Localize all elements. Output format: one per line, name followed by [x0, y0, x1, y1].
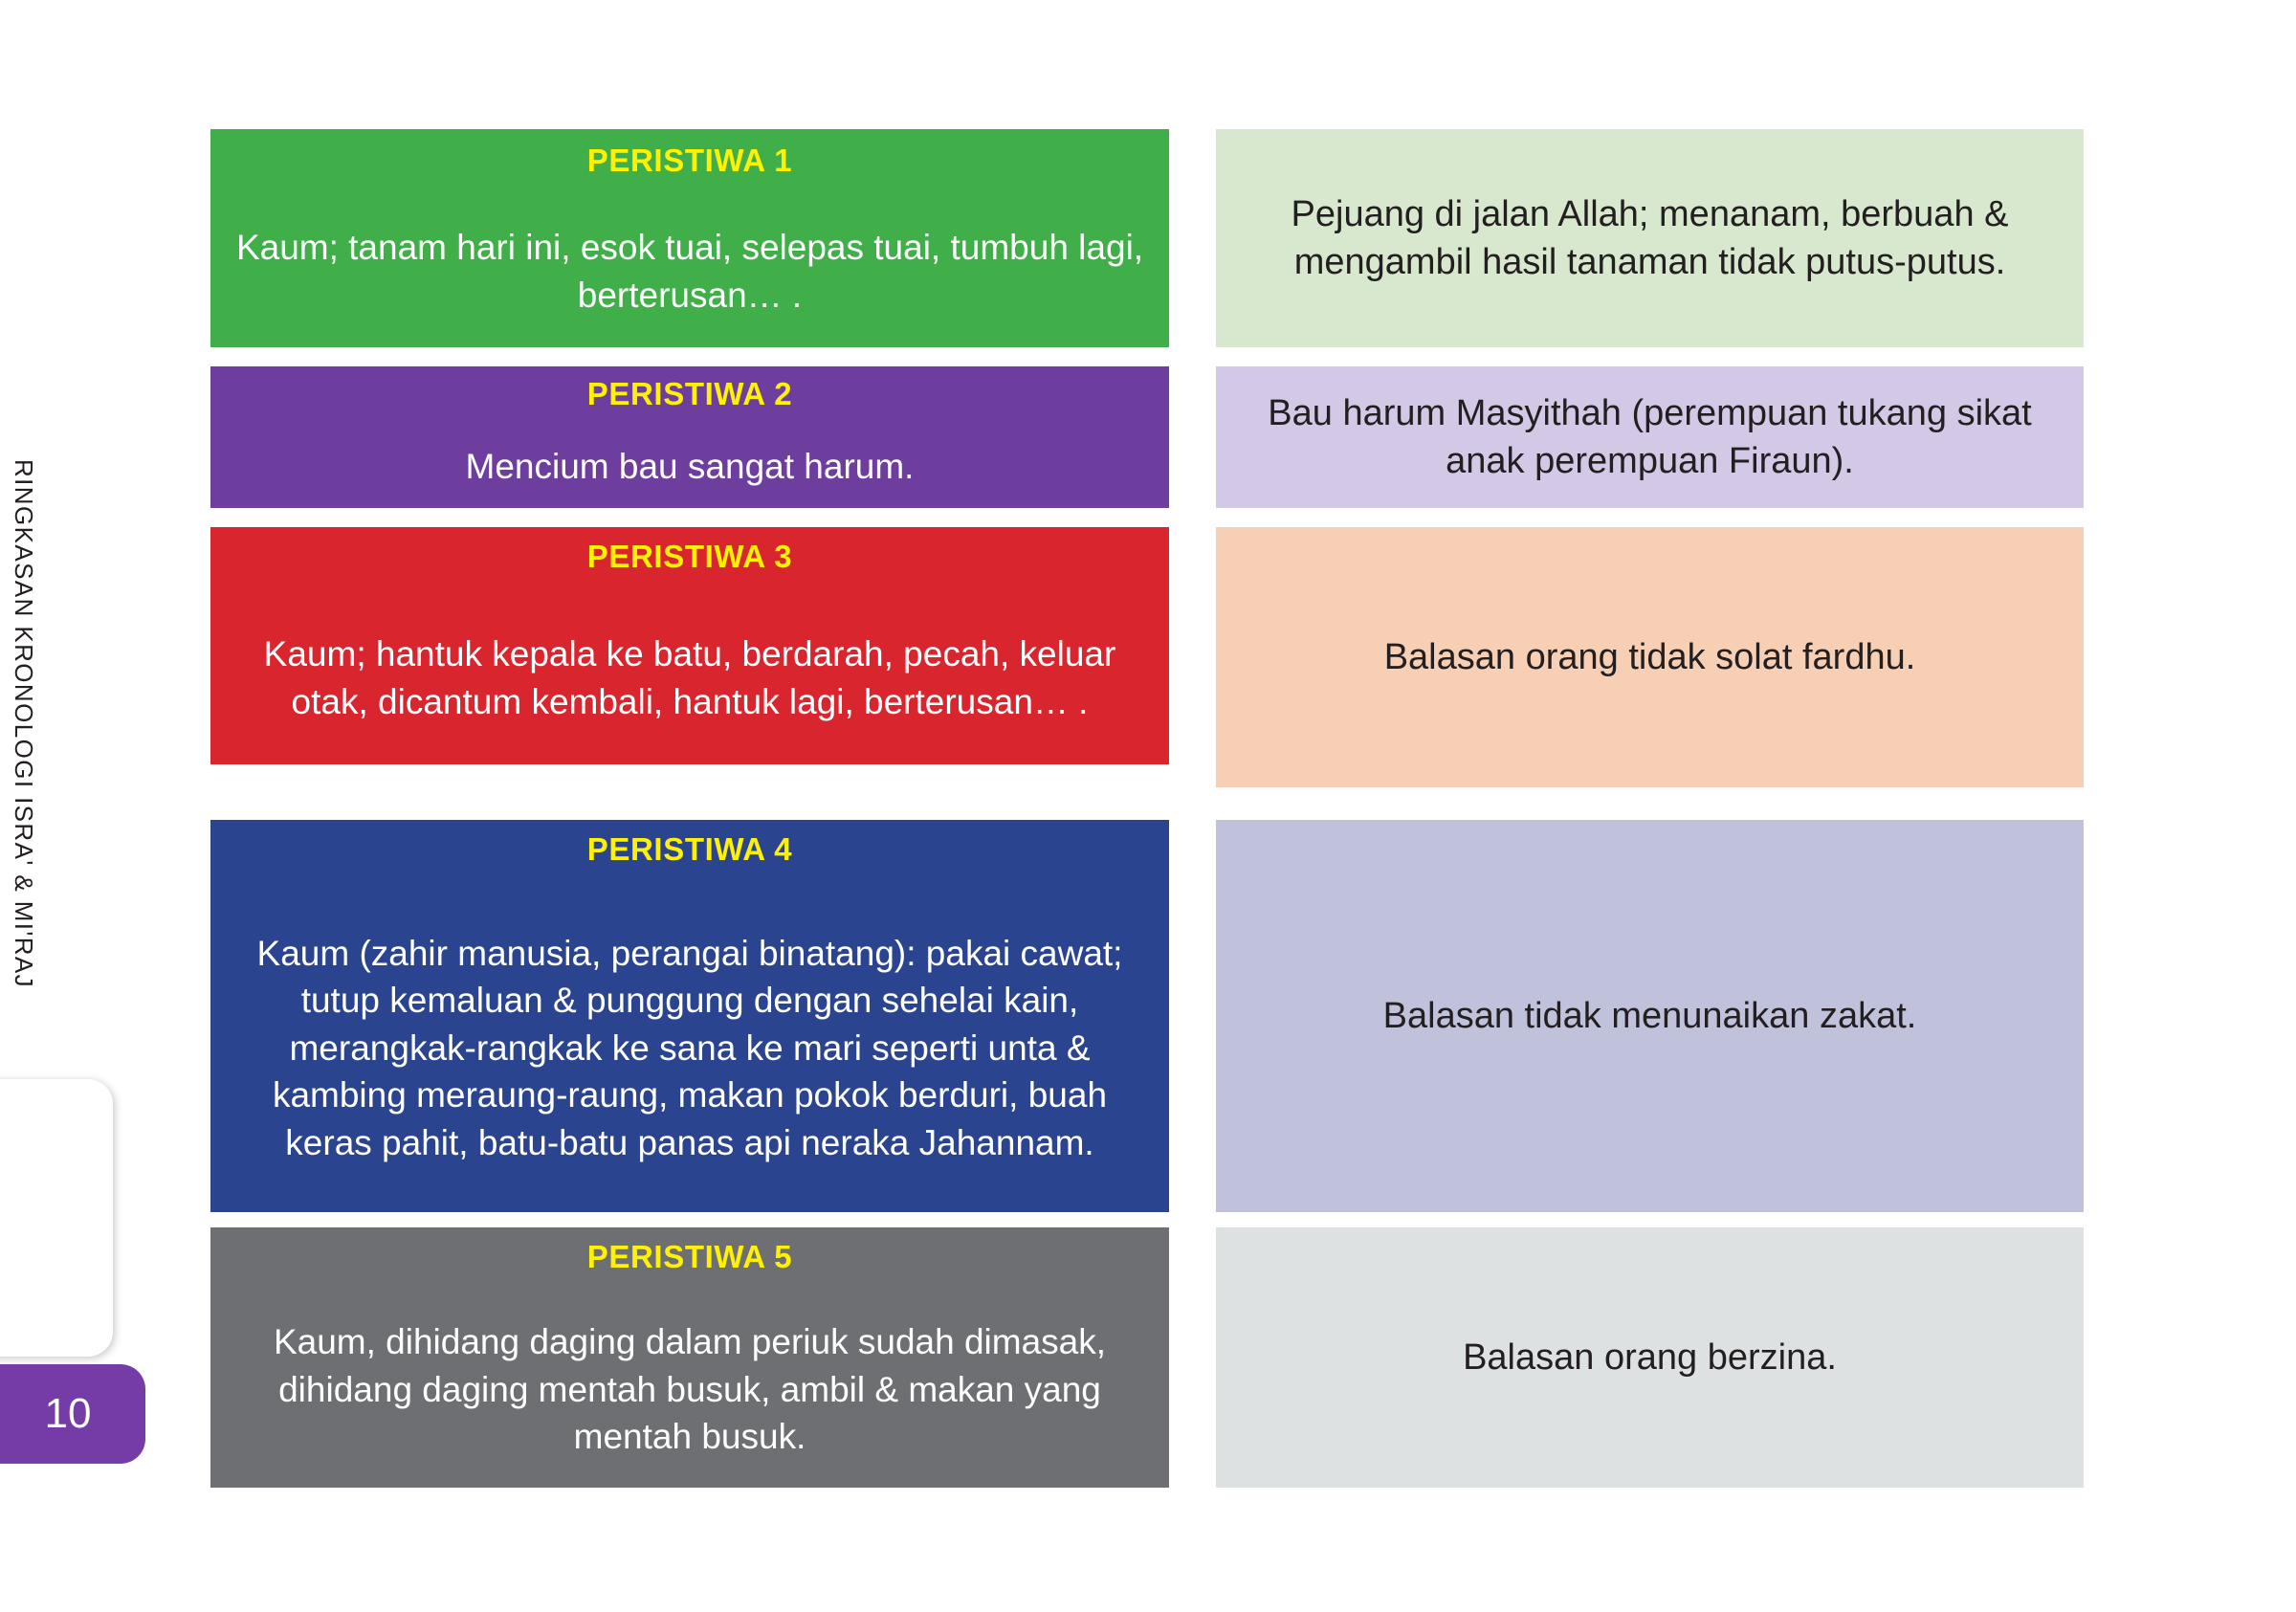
- meaning-text: Balasan orang berzina.: [1463, 1334, 1837, 1381]
- meaning-card-5: Balasan orang berzina.: [1216, 1227, 2084, 1488]
- meaning-card-4: Balasan tidak menunaikan zakat.: [1216, 820, 2084, 1212]
- event-card-3-body: Kaum; hantuk kepala ke batu, berdarah, p…: [210, 591, 1169, 764]
- event-text: Kaum; tanam hari ini, esok tuai, selepas…: [232, 224, 1148, 319]
- event-card-4: PERISTIWA 4 Kaum (zahir manusia, peranga…: [210, 820, 1169, 1212]
- page-number: 10: [0, 1390, 91, 1438]
- table-row: PERISTIWA 1 Kaum; tanam hari ini, esok t…: [210, 129, 2084, 347]
- event-card-1-header: PERISTIWA 1: [210, 129, 1169, 191]
- event-text: Kaum, dihidang daging dalam periuk sudah…: [232, 1318, 1148, 1461]
- event-card-1: PERISTIWA 1 Kaum; tanam hari ini, esok t…: [210, 129, 1169, 347]
- event-heading: PERISTIWA 1: [587, 143, 792, 179]
- event-card-4-body: Kaum (zahir manusia, perangai binatang):…: [210, 884, 1169, 1212]
- table-row: PERISTIWA 3 Kaum; hantuk kepala ke batu,…: [210, 527, 2084, 764]
- event-card-5-header: PERISTIWA 5: [210, 1227, 1169, 1287]
- event-heading: PERISTIWA 4: [587, 831, 792, 868]
- meaning-card-3: Balasan orang tidak solat fardhu.: [1216, 527, 2084, 787]
- meaning-text: Pejuang di jalan Allah; menanam, berbuah…: [1245, 190, 2055, 286]
- arabic-calligraphy-logo: [0, 1125, 2, 1313]
- side-rail: RINGKASAN KRONOLOGI ISRA' & MI'RAJ 10: [0, 0, 206, 1612]
- event-card-3: PERISTIWA 3 Kaum; hantuk kepala ke batu,…: [210, 527, 1169, 764]
- event-card-1-body: Kaum; tanam hari ini, esok tuai, selepas…: [210, 195, 1169, 347]
- event-card-2-header: PERISTIWA 2: [210, 366, 1169, 422]
- event-text: Mencium bau sangat harum.: [466, 443, 915, 491]
- meaning-text: Bau harum Masyithah (perempuan tukang si…: [1245, 389, 2055, 485]
- table-row: PERISTIWA 2 Mencium bau sangat harum. Ba…: [210, 366, 2084, 508]
- event-card-2-body: Mencium bau sangat harum.: [210, 426, 1169, 508]
- vertical-section-title: RINGKASAN KRONOLOGI ISRA' & MI'RAJ: [9, 459, 38, 1071]
- event-card-5: PERISTIWA 5 Kaum, dihidang daging dalam …: [210, 1227, 1169, 1488]
- event-text: Kaum; hantuk kepala ke batu, berdarah, p…: [232, 630, 1148, 725]
- events-table: PERISTIWA 1 Kaum; tanam hari ini, esok t…: [210, 129, 2084, 1488]
- meaning-text: Balasan tidak menunaikan zakat.: [1383, 992, 1917, 1040]
- table-row: PERISTIWA 5 Kaum, dihidang daging dalam …: [210, 1227, 2084, 1488]
- meaning-card-2: Bau harum Masyithah (perempuan tukang si…: [1216, 366, 2084, 508]
- table-row: PERISTIWA 4 Kaum (zahir manusia, peranga…: [210, 820, 2084, 1212]
- event-heading: PERISTIWA 5: [587, 1239, 792, 1275]
- page-number-tab: 10: [0, 1364, 145, 1464]
- meaning-text: Balasan orang tidak solat fardhu.: [1384, 633, 1916, 681]
- meaning-card-1: Pejuang di jalan Allah; menanam, berbuah…: [1216, 129, 2084, 347]
- event-card-4-header: PERISTIWA 4: [210, 820, 1169, 879]
- brand-tab: [0, 1079, 113, 1357]
- event-card-2: PERISTIWA 2 Mencium bau sangat harum.: [210, 366, 1169, 508]
- event-text: Kaum (zahir manusia, perangai binatang):…: [232, 930, 1148, 1167]
- event-heading: PERISTIWA 2: [587, 376, 792, 412]
- event-card-5-body: Kaum, dihidang daging dalam periuk sudah…: [210, 1292, 1169, 1488]
- event-heading: PERISTIWA 3: [587, 539, 792, 575]
- event-card-3-header: PERISTIWA 3: [210, 527, 1169, 586]
